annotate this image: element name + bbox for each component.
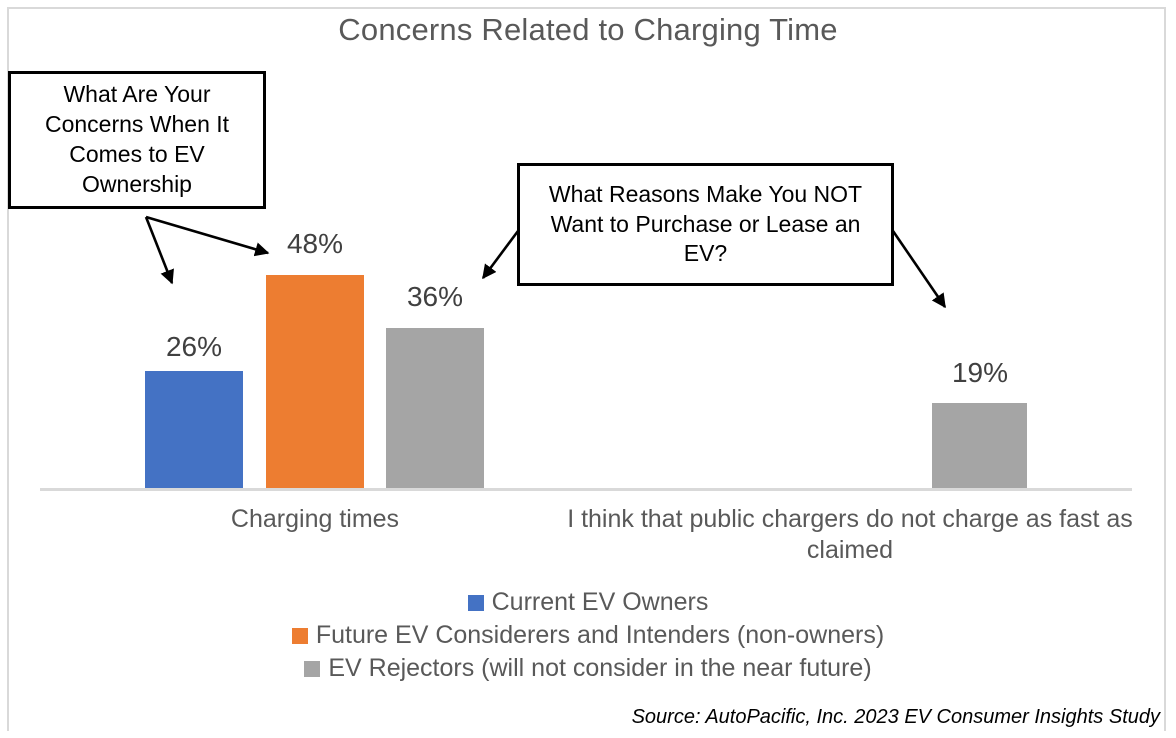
legend-item-ev-rejectors[interactable]: EV Rejectors (will not consider in the n… <box>0 652 1176 685</box>
bar-ev-rejectors-public-chargers[interactable] <box>932 403 1027 488</box>
legend-item-current-ev-owners[interactable]: Current EV Owners <box>0 586 1176 619</box>
data-label-48: 48% <box>265 228 365 260</box>
chart-container: Concerns Related to Charging Time 26% 48… <box>0 0 1176 738</box>
legend-label-ev-rejectors: EV Rejectors (will not consider in the n… <box>328 654 871 683</box>
legend-label-current-ev-owners: Current EV Owners <box>492 588 709 617</box>
legend-item-future-ev-considerers[interactable]: Future EV Considerers and Intenders (non… <box>0 619 1176 652</box>
x-axis-label-public-chargers: I think that public chargers do not char… <box>560 504 1140 567</box>
data-label-26: 26% <box>144 331 244 363</box>
callout-box-reasons: What Reasons Make You NOT Want to Purcha… <box>517 163 894 286</box>
chart-legend: Current EV Owners Future EV Considerers … <box>0 586 1176 685</box>
x-axis-label-charging-times: Charging times <box>140 504 490 535</box>
data-label-36: 36% <box>385 281 485 313</box>
data-label-19: 19% <box>930 357 1030 389</box>
legend-swatch-icon-gray <box>304 661 320 677</box>
callout-box-concerns: What Are Your Concerns When It Comes to … <box>8 71 266 209</box>
bar-ev-rejectors-charging-times[interactable] <box>386 328 484 488</box>
x-axis-line <box>40 488 1132 491</box>
legend-swatch-icon-blue <box>468 595 484 611</box>
source-note: Source: AutoPacific, Inc. 2023 EV Consum… <box>632 706 1160 729</box>
bar-future-ev-considerers-charging-times[interactable] <box>266 275 364 488</box>
legend-swatch-icon-orange <box>292 628 308 644</box>
legend-label-future-ev-considerers: Future EV Considerers and Intenders (non… <box>316 621 884 650</box>
bar-current-ev-owners-charging-times[interactable] <box>145 371 243 488</box>
